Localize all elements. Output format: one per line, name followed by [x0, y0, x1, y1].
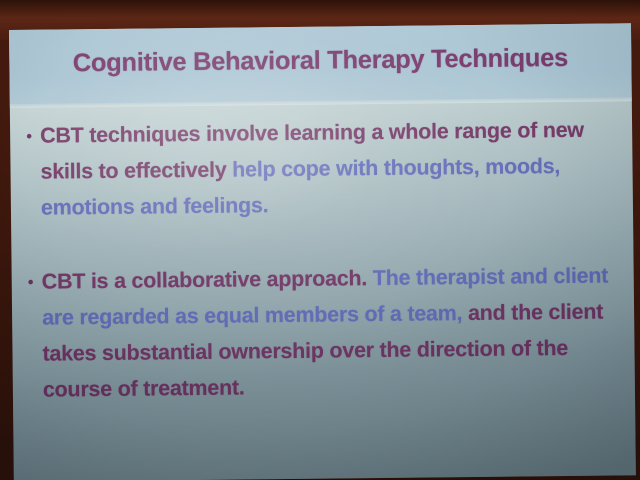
projected-slide: Cognitive Behavioral Therapy Techniques … — [9, 23, 636, 480]
list-item: • CBT techniques involve learning a whol… — [18, 111, 625, 226]
bullet-2-segment-primary-a: CBT is a collaborative approach. — [42, 266, 373, 294]
bullet-text-2: CBT is a collaborative approach. The the… — [42, 257, 628, 407]
photo-frame: Cognitive Behavioral Therapy Techniques … — [0, 0, 640, 480]
list-item: • CBT is a collaborative approach. The t… — [20, 257, 628, 408]
bullet-text-1: CBT techniques involve learning a whole … — [40, 111, 625, 225]
bullet-point-icon: • — [20, 264, 42, 291]
slide-body: • CBT techniques involve learning a whol… — [10, 101, 636, 480]
bullet-point-icon: • — [18, 118, 40, 145]
